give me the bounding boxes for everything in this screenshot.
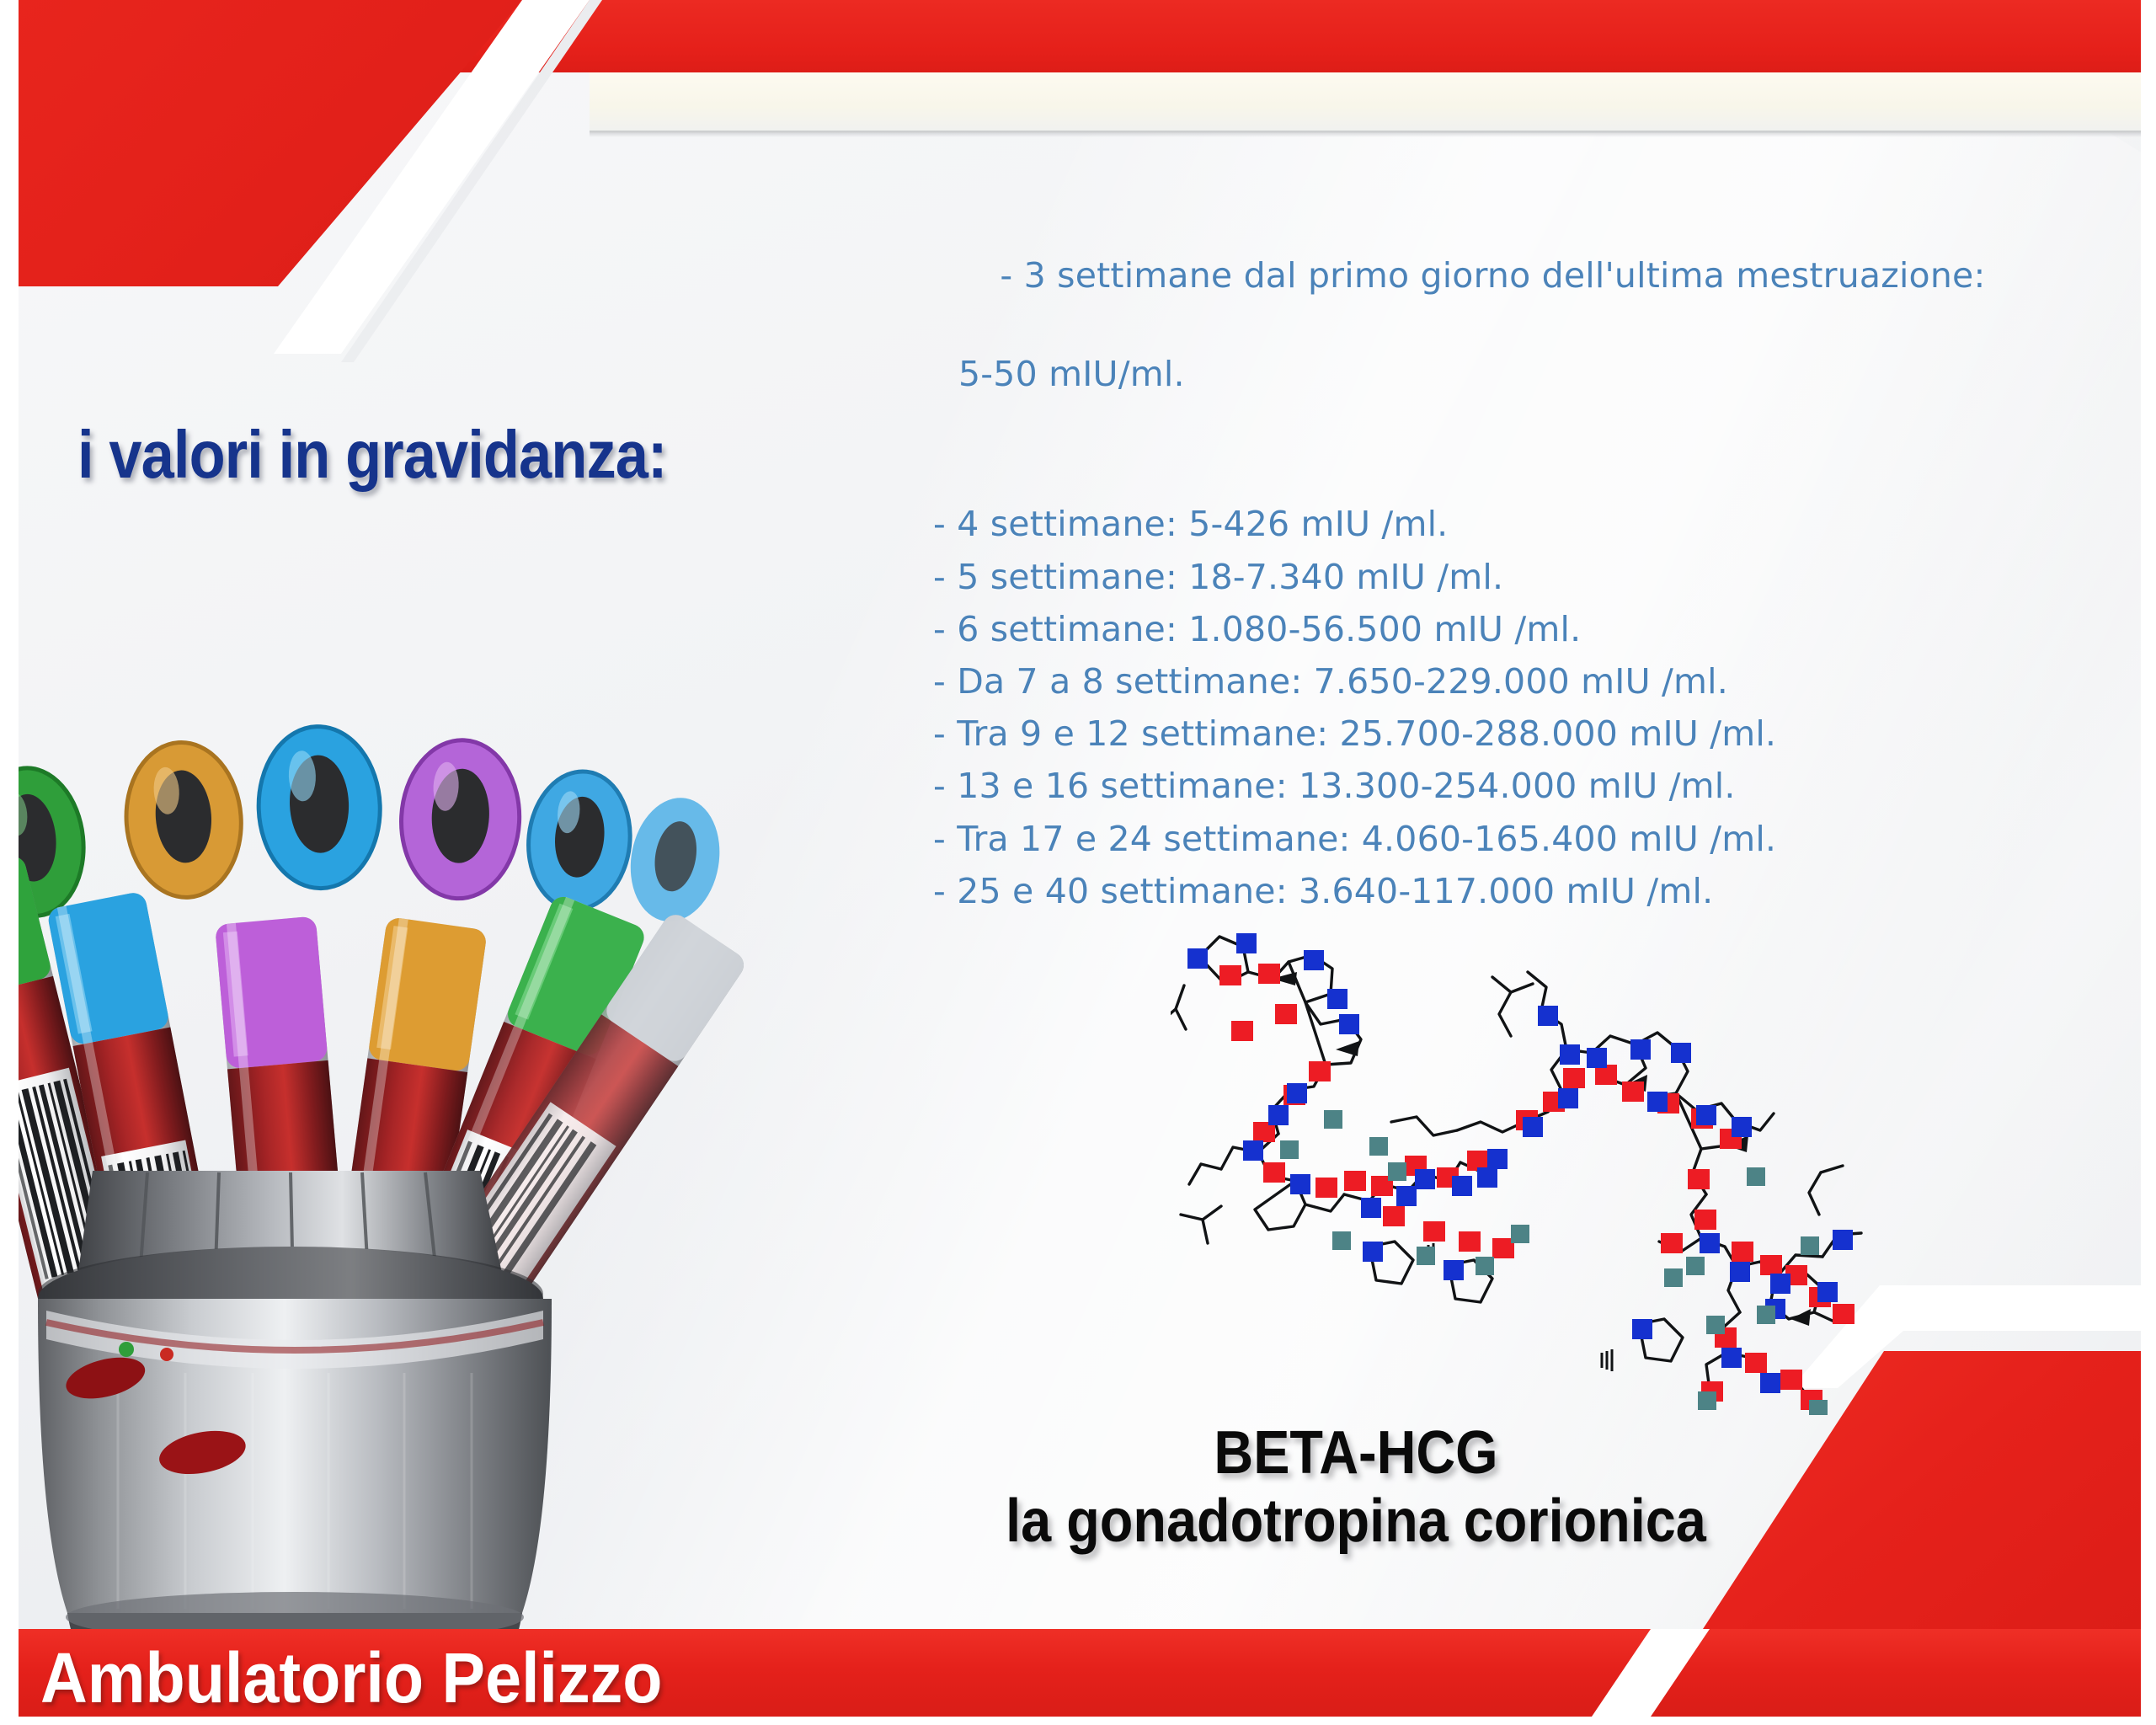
list-item: - 5 settimane: 18-7.340 mIU /ml. [933,553,2028,601]
list-item-main: - 13 e 16 settimane: 13.300-254.000 mIU … [933,766,1736,806]
poster-canvas: i valori in gravidanza: - 3 settimane da… [0,0,2156,1725]
list-item-main: - Tra 9 e 12 settimane: 25.700-288.000 m… [933,713,1776,754]
hcg-values-list: - 3 settimane dal primo giorno dell'ulti… [933,202,2028,919]
blood-tubes-photo [0,699,817,1701]
centrifuge-body [38,1171,552,1685]
frame-edge-right [2141,0,2156,1725]
frame-edge-bottom [0,1717,2156,1725]
list-item: - 25 e 40 settimane: 3.640-117.000 mIU /… [933,867,2028,916]
molecule-caption: BETA-HCG la gonadotropina corionica [867,1419,1844,1555]
page-title: i valori in gravidanza: [77,416,667,494]
frame-edge-left [0,0,19,1725]
list-item-main: - Da 7 a 8 settimane: 7.650-229.000 mIU … [933,661,1728,702]
list-item-main: - 4 settimane: 5-426 mIU /ml. [933,504,1448,544]
list-item: - 4 settimane: 5-426 mIU /ml. [933,499,2028,548]
list-item: - 3 settimane dal primo giorno dell'ulti… [933,202,2028,496]
list-item-main: - 25 e 40 settimane: 3.640-117.000 mIU /… [933,871,1713,911]
caption-line-2: la gonadotropina corionica [916,1487,1796,1556]
clinic-name: Ambulatorio Pelizzo [40,1642,663,1713]
list-item-main: - 5 settimane: 18-7.340 mIU /ml. [933,557,1503,597]
top-cream-strip-shadow [590,131,2156,137]
list-item: - 13 e 16 settimane: 13.300-254.000 mIU … [933,761,2028,810]
list-item: - 6 settimane: 1.080-56.500 mIU /ml. [933,605,2028,654]
list-item: - Tra 17 e 24 settimane: 4.060-165.400 m… [933,814,2028,863]
beta-hcg-molecule-diagram [1171,884,1870,1415]
list-item: - Tra 9 e 12 settimane: 25.700-288.000 m… [933,709,2028,758]
top-cream-strip [590,72,2156,133]
list-item-main: - 3 settimane dal primo giorno dell'ulti… [1000,255,1985,296]
list-item-continuation: 5-50 mIU/ml. [933,350,2028,398]
list-item-main: - Tra 17 e 24 settimane: 4.060-165.400 m… [933,819,1776,859]
list-item-main: - 6 settimane: 1.080-56.500 mIU /ml. [933,609,1581,649]
list-item: - Da 7 a 8 settimane: 7.650-229.000 mIU … [933,657,2028,706]
caption-line-1: BETA-HCG [916,1419,1796,1487]
